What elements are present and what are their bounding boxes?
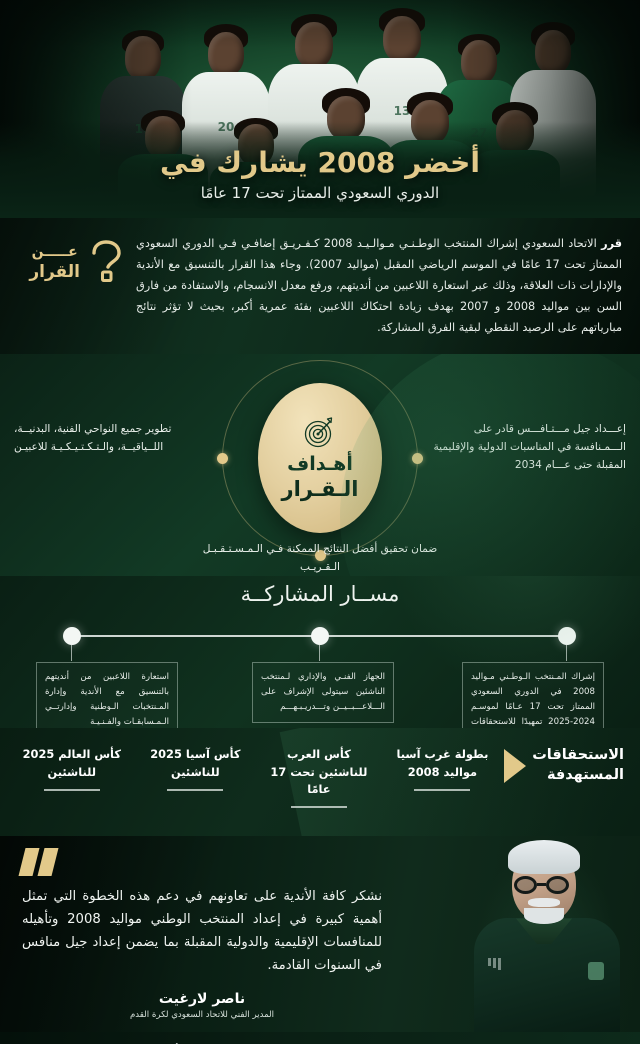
target-icon: [303, 415, 337, 449]
tournament-line2: مواليد 2008: [383, 764, 501, 781]
tournaments-heading-line2: المستهدفة: [547, 767, 624, 783]
page-title: أخضر 2008 يشارك في: [0, 146, 640, 180]
tournament-underline: [291, 806, 347, 808]
tournament-item: كأس آسيا 2025 للناشئين: [136, 746, 254, 790]
hero-title-block: أخضر 2008 يشارك في الدوري السعودي الممتا…: [0, 146, 640, 202]
goals-badge-line1: أهـداف: [287, 453, 353, 475]
quote-content: نشكر كافة الأندية على تعاونهم في دعم هذه…: [22, 848, 382, 1020]
quote-author-role: المدير الفني للاتحاد السعودي لكرة القدم: [22, 1010, 382, 1020]
timeline-title: مســار المشاركــة: [0, 582, 640, 606]
saff-crest-icon: [588, 962, 604, 980]
goal-node-right: [412, 453, 423, 464]
timeline-step-card: الجهاز الفنـي والإداري لـمنتخب الناشئين …: [252, 662, 394, 722]
quote-author-name: ناصر لارغيت: [22, 991, 382, 1007]
tournament-line1: بطولة غرب آسيا: [383, 746, 501, 763]
quote-text: نشكر كافة الأندية على تعاونهم في دعم هذه…: [22, 886, 382, 977]
tournaments-list: بطولة غرب آسيا مواليد 2008 كأس العرب للن…: [10, 742, 504, 807]
tournament-underline: [44, 789, 100, 791]
goals-badge-line2: الـقـرار: [282, 477, 359, 501]
quote-section: نشكر كافة الأندية على تعاونهم في دعم هذه…: [0, 836, 640, 1032]
hero-section: 10 20 13 27: [0, 0, 640, 218]
participation-path-section: مســار المشاركــة إشراك المـنتخب الـوطـن…: [0, 576, 640, 728]
goals-badge: أهـداف الـقـرار: [258, 383, 382, 533]
coach-portrait: [462, 836, 630, 1032]
question-mark-icon: [88, 240, 122, 284]
timeline-stem-2: [319, 645, 320, 661]
timeline-dot-3: [558, 627, 576, 645]
tournament-line2: للناشئين: [13, 764, 131, 781]
tournament-line2: للناشئين تحت 17 عامًا: [260, 764, 378, 798]
quotation-mark-icon: [22, 848, 382, 876]
goal-node-left: [217, 453, 228, 464]
about-decision-text: قرر الاتحاد السعودي إشراك المنتخب الوطـن…: [136, 234, 622, 338]
about-label-line2: القرار: [29, 262, 80, 282]
timeline-dot-2: [311, 627, 329, 645]
adidas-stripes-icon: [488, 958, 504, 970]
tournament-underline: [167, 789, 223, 791]
tournament-line1: كأس آسيا 2025: [136, 746, 254, 763]
about-body-text: الاتحاد السعودي إشراك المنتخب الوطـنـي م…: [136, 237, 622, 334]
about-lead-word: قرر: [601, 237, 622, 250]
tournament-item: كأس العالم 2025 للناشئين: [13, 746, 131, 790]
timeline-stem-3: [566, 645, 567, 661]
tournament-item: كأس العرب للناشئين تحت 17 عامًا: [260, 746, 378, 807]
triangle-left-icon: [504, 749, 526, 783]
timeline-dot-1: [63, 627, 81, 645]
tournaments-heading-line1: الاستحقاقات: [532, 747, 624, 763]
infographic-page: 10 20 13 27: [0, 0, 640, 1044]
tournament-line1: كأس العرب: [260, 746, 378, 763]
tournament-underline: [414, 789, 470, 791]
timeline-step-card: إشراك المـنتخب الـوطـني مـواليد 2008 في …: [462, 662, 604, 728]
page-subtitle: الدوري السعودي الممتاز تحت 17 عامًا: [0, 184, 640, 202]
tournament-line1: كأس العالم 2025: [13, 746, 131, 763]
timeline-step-card: استعارة اللاعبين من أنديتهم بالتنسيق مع …: [36, 662, 178, 728]
about-decision-section: عـــــن القرار قرر الاتحاد السعودي إشراك…: [0, 218, 640, 354]
timeline-stem-1: [71, 645, 72, 661]
tournaments-heading: الاستحقاقات المستهدفة: [504, 742, 624, 785]
goal-item-right: إعـــداد جيل مـــتـافـــس قادر على الـــ…: [430, 420, 626, 474]
tournament-line2: للناشئين: [136, 764, 254, 781]
goal-item-left: تطوير جميع النواحي الفنية، البدنيــة، ال…: [14, 420, 210, 456]
target-tournaments-section: الاستحقاقات المستهدفة بطولة غرب آسيا موا…: [0, 728, 640, 836]
tournaments-heading-text: الاستحقاقات المستهدفة: [532, 746, 624, 785]
goals-section: أهـداف الـقـرار إعـــداد جيل مـــتـافـــ…: [0, 354, 640, 576]
about-decision-label: عـــــن القرار: [29, 241, 80, 283]
about-decision-badge: عـــــن القرار: [18, 234, 122, 284]
goal-item-bottom: ضمان تحقيق أفضل النتائج الممكنة فـي الـم…: [200, 540, 440, 576]
tournament-item: بطولة غرب آسيا مواليد 2008: [383, 746, 501, 790]
about-label-line1: عـــــن: [32, 244, 78, 260]
footer-section: SAFF الاتحاد السعودي لكرة القدم SAUDI AR…: [0, 1032, 640, 1044]
